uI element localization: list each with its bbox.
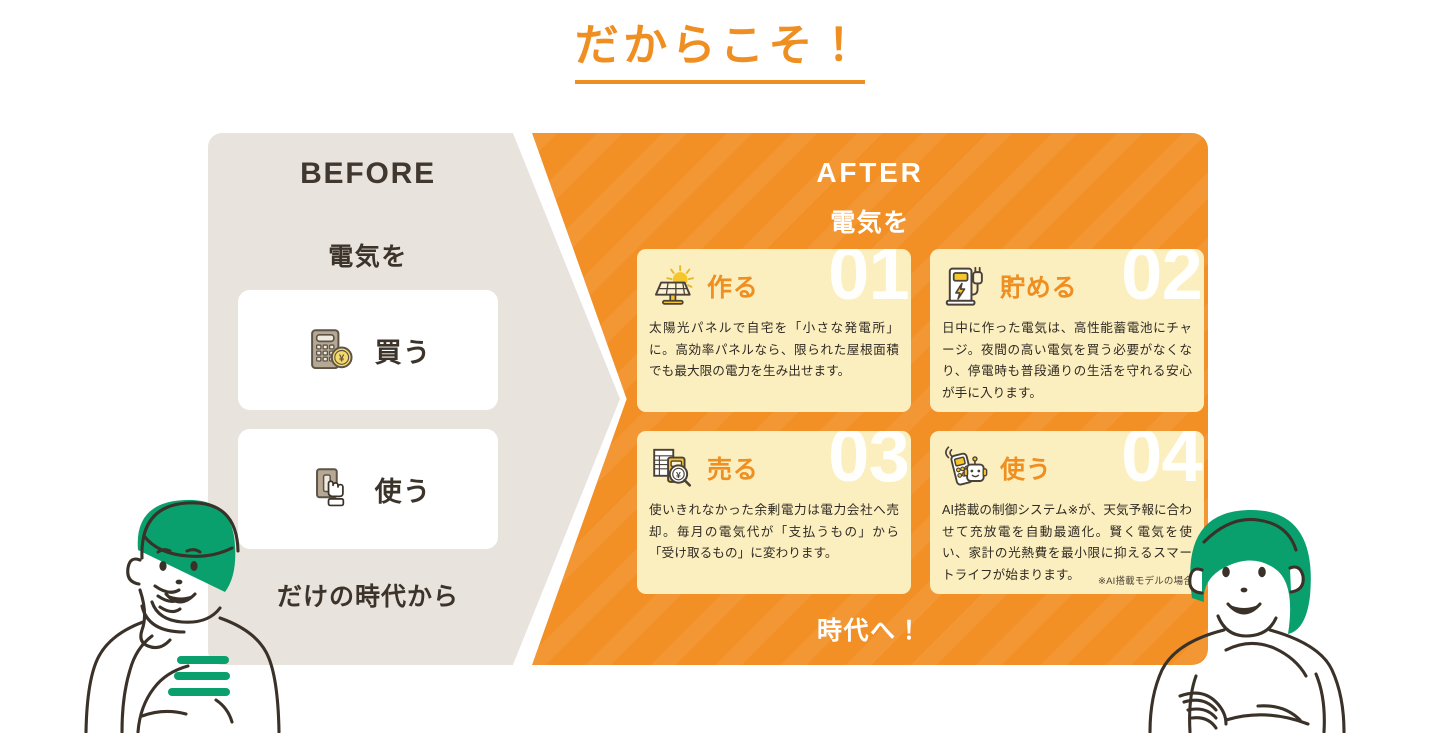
step-title: 売る <box>707 450 759 486</box>
before-card-label: 使う <box>375 470 432 509</box>
document-calculator-yen-search-icon: ¥ <box>649 445 701 491</box>
after-title: AFTER <box>532 157 1208 189</box>
before-card-label: 買う <box>375 331 432 370</box>
before-card-buy[interactable]: ¥ 買う <box>238 290 498 410</box>
solar-panel-sun-icon <box>649 263 701 309</box>
step-body: 太陽光パネルで自宅を「小さな発電所」に。高効率パネルなら、限られた屋根面積でも最… <box>649 318 899 383</box>
after-subtitle: 電気を <box>532 203 1208 239</box>
steps-grid: 01 <box>637 249 1204 599</box>
step-card-04[interactable]: 04 <box>930 431 1204 594</box>
step-body: 使いきれなかった余剰電力は電力会社へ売却。毎月の電気代が「支払うもの」から「受け… <box>649 500 899 565</box>
step-header: 貯める <box>942 260 1192 312</box>
illustration-man-thinking <box>80 490 290 733</box>
after-footer: 時代へ！ <box>532 611 1208 647</box>
infographic-stage: だからこそ！ BEFORE 電気を <box>0 0 1440 733</box>
step-title: 作る <box>707 268 759 304</box>
remote-robot-icon <box>942 445 994 491</box>
step-card-02[interactable]: 02 貯める <box>930 249 1204 412</box>
step-body: 日中に作った電気は、高性能蓄電池にチャージ。夜間の高い電気を買う必要がなくなり、… <box>942 318 1192 405</box>
step-body: AI搭載の制御システム※が、天気予報に合わせて充放電を自動最適化。賢く電気を使い… <box>942 500 1192 587</box>
step-header: 作る <box>649 260 899 312</box>
before-title: BEFORE <box>208 157 528 191</box>
svg-text:¥: ¥ <box>339 354 345 365</box>
step-card-01[interactable]: 01 <box>637 249 911 412</box>
step-title: 使う <box>1000 450 1052 486</box>
calculator-yen-icon: ¥ <box>305 327 357 373</box>
light-switch-hand-icon <box>305 466 357 512</box>
svg-text:¥: ¥ <box>676 470 681 480</box>
before-subtitle: 電気を <box>208 237 528 273</box>
step-header: 使う <box>942 442 1192 494</box>
headline: だからこそ！ <box>0 22 1440 84</box>
step-header: ¥ 売る <box>649 442 899 494</box>
headline-text: だからこそ！ <box>575 22 865 84</box>
step-card-03[interactable]: 03 <box>637 431 911 594</box>
battery-charger-icon <box>942 263 994 309</box>
step-title: 貯める <box>1000 268 1077 304</box>
